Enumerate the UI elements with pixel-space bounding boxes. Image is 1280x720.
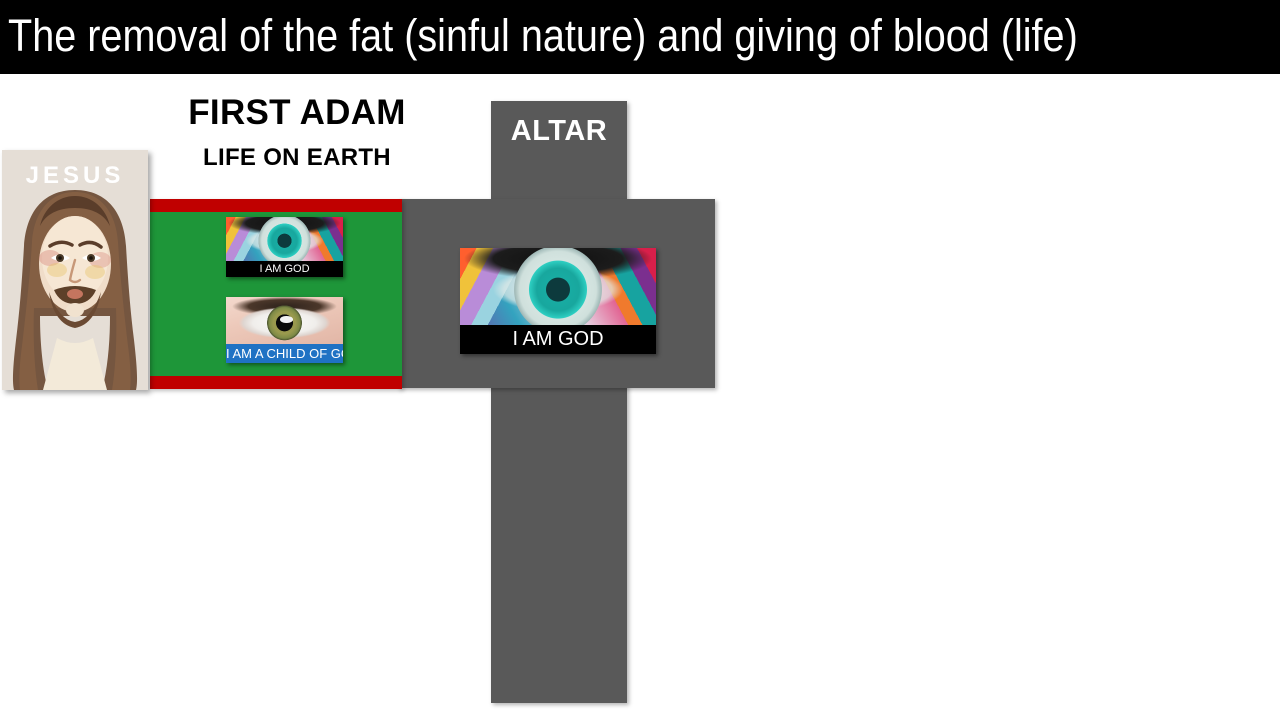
cross-vertical-beam	[491, 101, 627, 703]
human-eye-icon	[226, 297, 343, 344]
slide-title: The removal of the fat (sinful nature) a…	[8, 8, 1078, 64]
heading-life-on-earth: LIFE ON EARTH	[150, 144, 444, 172]
mosaic-eye-icon	[460, 248, 656, 325]
jesus-portrait-icon	[2, 188, 148, 390]
mosaic-eye-icon	[226, 217, 343, 261]
jesus-label: JESUS	[2, 162, 148, 190]
mosaic-eye-image-small	[226, 217, 343, 261]
altar-label: ALTAR	[491, 115, 627, 148]
human-eye-image	[226, 297, 343, 344]
blood-band-bottom	[150, 376, 402, 389]
eye-card-i-am-god-small: I AM GOD	[226, 217, 343, 277]
eye-card-i-am-god-large: I AM GOD	[460, 248, 656, 354]
heading-first-adam: FIRST ADAM	[150, 93, 444, 133]
eye-caption-i-am-god-large: I AM GOD	[460, 325, 656, 354]
jesus-portrait-card: JESUS	[2, 150, 148, 390]
mosaic-eye-image-large	[460, 248, 656, 325]
eye-caption-i-am-god-small: I AM GOD	[226, 261, 343, 277]
blood-band-top	[150, 199, 402, 212]
eye-caption-i-am-a-child-of-god: I AM A CHILD OF GOD	[226, 344, 343, 363]
title-bar: The removal of the fat (sinful nature) a…	[0, 0, 1280, 74]
eye-card-i-am-a-child-of-god: I AM A CHILD OF GOD	[226, 297, 343, 363]
